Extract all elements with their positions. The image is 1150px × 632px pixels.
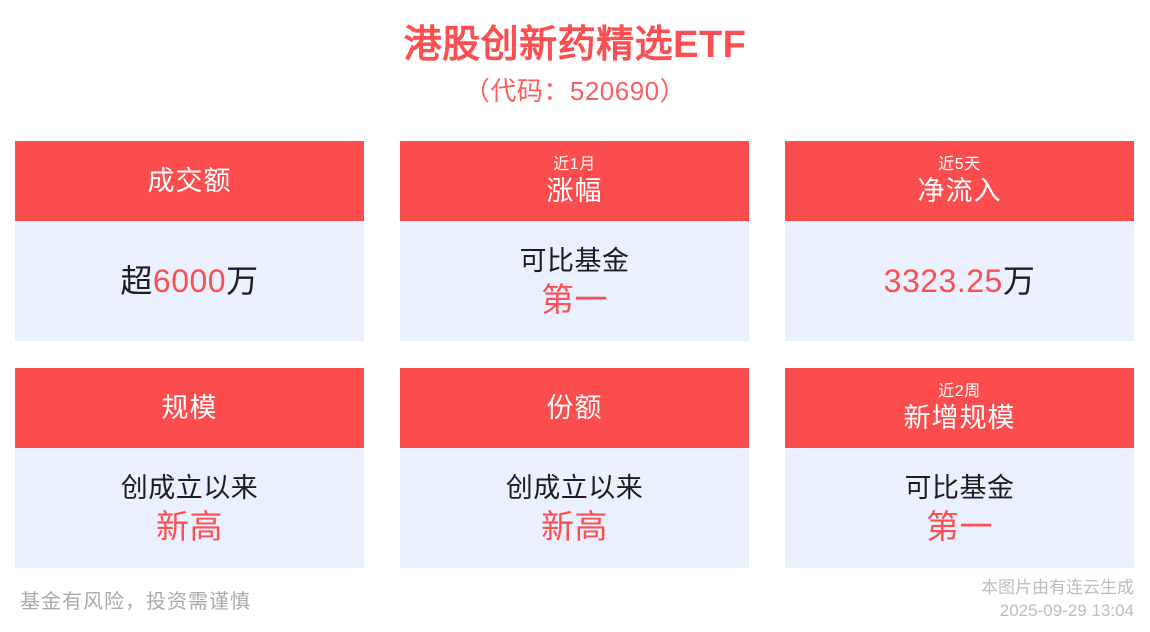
metric-value-highlight: 新高 bbox=[121, 506, 259, 547]
metric-card-header: 近5天净流入 bbox=[785, 141, 1134, 221]
metric-card-header: 份额 bbox=[400, 368, 749, 448]
metric-card-title: 成交额 bbox=[148, 165, 232, 198]
metric-card-header: 规模 bbox=[15, 368, 364, 448]
image-credit-timestamp: 2025-09-29 13:04 bbox=[981, 599, 1134, 622]
metric-value: 3323.25万 bbox=[884, 261, 1036, 301]
metric-card-body: 可比基金第一 bbox=[785, 448, 1134, 568]
metric-card-header: 近1月涨幅 bbox=[400, 141, 749, 221]
metric-card-body: 创成立以来新高 bbox=[400, 448, 749, 568]
metric-card: 成交额超6000万 bbox=[15, 141, 364, 341]
metric-value-caption: 创成立以来 bbox=[506, 470, 644, 506]
page-header: 港股创新药精选ETF （代码：520690） bbox=[0, 0, 1150, 108]
metric-card: 近5天净流入3323.25万 bbox=[785, 141, 1134, 341]
fund-code-subtitle: （代码：520690） bbox=[0, 74, 1150, 108]
metric-card-header: 成交额 bbox=[15, 141, 364, 221]
metric-value: 超6000万 bbox=[120, 261, 258, 301]
risk-disclaimer: 基金有风险，投资需谨慎 bbox=[20, 585, 251, 614]
page-title: 港股创新药精选ETF bbox=[0, 22, 1150, 68]
metric-card-kicker: 近1月 bbox=[553, 155, 595, 175]
metric-card: 近1月涨幅可比基金第一 bbox=[400, 141, 749, 341]
metric-card: 规模创成立以来新高 bbox=[15, 368, 364, 568]
metric-card-body: 超6000万 bbox=[15, 221, 364, 341]
metric-card-title: 净流入 bbox=[918, 175, 1002, 208]
metric-card-title: 涨幅 bbox=[547, 175, 603, 208]
metric-card-body: 可比基金第一 bbox=[400, 221, 749, 341]
metric-card: 份额创成立以来新高 bbox=[400, 368, 749, 568]
metric-card: 近2周新增规模可比基金第一 bbox=[785, 368, 1134, 568]
metric-card-title: 新增规模 bbox=[904, 402, 1016, 435]
metric-card-header: 近2周新增规模 bbox=[785, 368, 1134, 448]
image-credit-source: 本图片由有连云生成 bbox=[981, 576, 1134, 599]
metric-value-number: 6000 bbox=[153, 263, 226, 299]
metric-card-kicker: 近2周 bbox=[938, 382, 980, 402]
metric-card-body: 3323.25万 bbox=[785, 221, 1134, 341]
metric-card-body: 创成立以来新高 bbox=[15, 448, 364, 568]
metric-value-highlight: 新高 bbox=[506, 506, 644, 547]
metric-value-number: 3323.25 bbox=[884, 263, 1003, 299]
metric-card-title: 规模 bbox=[162, 392, 218, 425]
page-footer: 基金有风险，投资需谨慎 本图片由有连云生成 2025-09-29 13:04 bbox=[0, 568, 1150, 632]
metric-value-caption: 创成立以来 bbox=[121, 470, 259, 506]
metric-value-prefix: 超 bbox=[120, 263, 153, 299]
metric-value: 可比基金第一 bbox=[905, 470, 1015, 547]
metric-value-suffix: 万 bbox=[226, 263, 259, 299]
metric-card-kicker: 近5天 bbox=[938, 155, 980, 175]
metric-value-suffix: 万 bbox=[1003, 263, 1036, 299]
metric-card-grid: 成交额超6000万近1月涨幅可比基金第一近5天净流入3323.25万规模创成立以… bbox=[15, 141, 1135, 568]
metric-card-title: 份额 bbox=[547, 392, 603, 425]
metric-value-highlight: 第一 bbox=[520, 279, 630, 320]
metric-value: 可比基金第一 bbox=[520, 243, 630, 320]
metric-value-caption: 可比基金 bbox=[905, 470, 1015, 506]
metric-value-highlight: 第一 bbox=[905, 506, 1015, 547]
metric-value-caption: 可比基金 bbox=[520, 243, 630, 279]
image-credit: 本图片由有连云生成 2025-09-29 13:04 bbox=[981, 576, 1134, 622]
metric-value: 创成立以来新高 bbox=[506, 470, 644, 547]
metric-value: 创成立以来新高 bbox=[121, 470, 259, 547]
